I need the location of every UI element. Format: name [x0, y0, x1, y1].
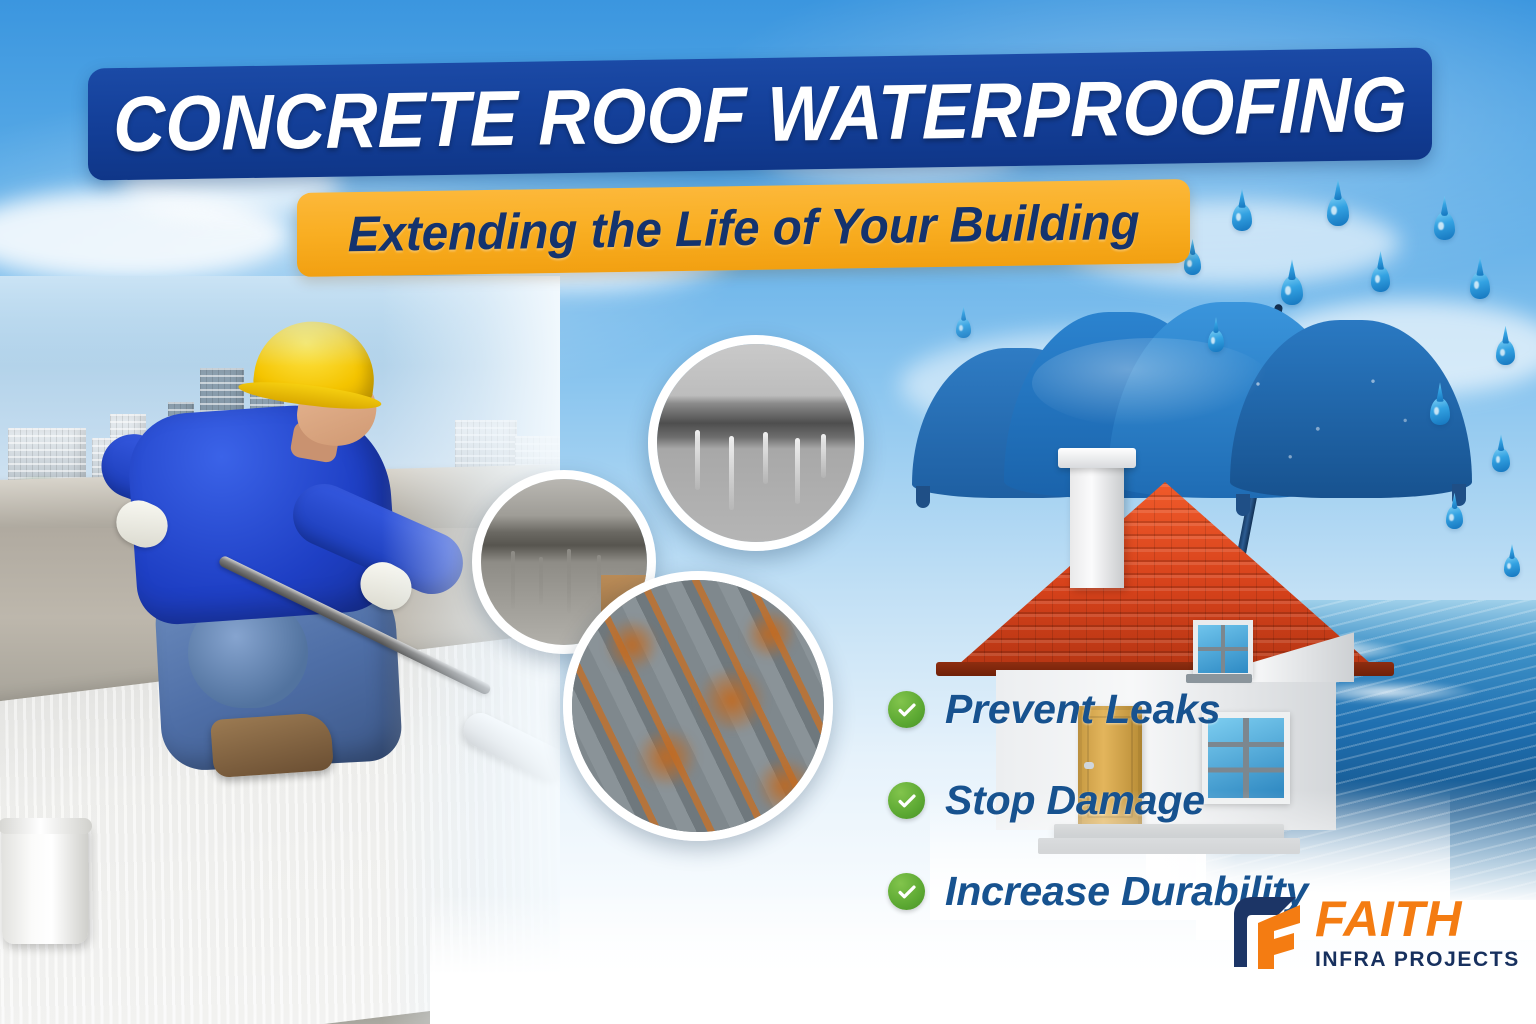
benefit-item: Prevent Leaks: [888, 686, 1308, 733]
check-circle-icon: [888, 691, 925, 728]
house-upper-window: [1193, 620, 1253, 678]
benefit-label: Stop Damage: [945, 777, 1205, 824]
check-circle-icon: [888, 782, 925, 819]
faith-f-monogram-icon: [1228, 893, 1302, 971]
logo-wordmark: FAITH INFRA PROJECTS: [1315, 894, 1520, 970]
page-subtitle-text: Extending the Life of Your Building: [348, 193, 1140, 263]
benefits-list: Prevent Leaks Stop Damage Increase Durab…: [888, 686, 1308, 915]
house-window-sill: [1186, 674, 1252, 683]
house-roof: [950, 482, 1380, 672]
benefit-label: Prevent Leaks: [945, 686, 1220, 733]
inset-photo-rusted-rebar: [563, 571, 833, 841]
page-title: CONCRETE ROOF WATERPROOFING: [88, 47, 1432, 180]
house-chimney-cap: [1058, 448, 1136, 468]
poster-canvas: CONCRETE ROOF WATERPROOFING Extending th…: [0, 0, 1536, 1024]
brand-logo: FAITH INFRA PROJECTS: [1228, 893, 1520, 971]
check-circle-icon: [888, 873, 925, 910]
logo-name: FAITH: [1315, 894, 1462, 944]
inset-photo-cracked-concrete: [648, 335, 864, 551]
page-subtitle: Extending the Life of Your Building: [297, 179, 1190, 277]
logo-tagline: INFRA PROJECTS: [1315, 949, 1520, 970]
benefit-item: Stop Damage: [888, 777, 1308, 824]
worker-photo: [0, 276, 560, 1024]
page-title-text: CONCRETE ROOF WATERPROOFING: [113, 58, 1407, 169]
house-chimney: [1070, 458, 1124, 588]
